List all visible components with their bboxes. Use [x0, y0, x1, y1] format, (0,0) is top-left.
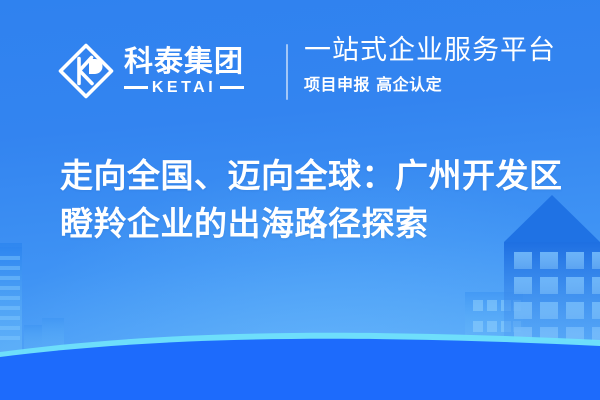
header-tagline: 一站式企业服务平台 项目申报 高企认定	[304, 36, 556, 95]
brand-name-cn: 科泰集团	[124, 47, 244, 76]
page-title: 走向全国、迈向全球：广州开发区瞪羚企业的出海路径探索	[60, 152, 572, 248]
wordmark-dash-right	[220, 86, 244, 89]
ketai-diamond-kp-logo-icon	[57, 42, 115, 100]
tagline-primary: 一站式企业服务平台	[304, 36, 556, 66]
cyan-ground-wave	[0, 333, 600, 400]
brand-name-en-row: KETAI	[124, 80, 244, 96]
left-striped-tower	[0, 243, 22, 355]
brand-logo[interactable]: 科泰集团 KETAI	[57, 42, 244, 100]
header-divider	[286, 44, 288, 100]
wordmark-dash-left	[124, 86, 148, 89]
tagline-secondary: 项目申报 高企认定	[304, 71, 556, 95]
brand-name-en: KETAI	[152, 80, 216, 96]
brand-wordmark: 科泰集团 KETAI	[124, 47, 244, 96]
promo-banner: 科泰集团 KETAI 一站式企业服务平台 项目申报 高企认定 走向全国、迈向全球…	[0, 0, 600, 400]
